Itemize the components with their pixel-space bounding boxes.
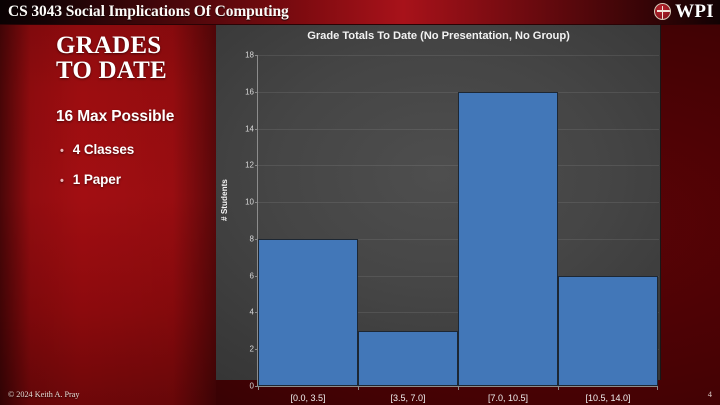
page-title-line-2: TO DATE <box>56 58 167 83</box>
chart-y-tick-label: 12 <box>245 161 254 170</box>
chart-y-tick-mark <box>255 202 258 203</box>
chart-y-tick-label: 2 <box>250 345 254 354</box>
chart-y-tick-label: 10 <box>245 198 254 207</box>
bullet-dot-icon: • <box>60 145 64 159</box>
chart-x-tick-label: [0.0, 3.5] <box>290 393 325 403</box>
chart-y-tick-mark <box>255 92 258 93</box>
chart-x-tick-label: [3.5, 7.0] <box>390 393 425 403</box>
chart-y-tick-label: 4 <box>250 308 254 317</box>
chart-title: Grade Totals To Date (No Presentation, N… <box>216 30 661 42</box>
chart-panel: Grade Totals To Date (No Presentation, N… <box>216 25 661 380</box>
chart-y-tick-mark <box>255 129 258 130</box>
slide-canvas: CS 3043 Social Implications Of Computing… <box>0 0 720 405</box>
chart-bar <box>358 331 458 386</box>
chart-y-tick-label: 6 <box>250 271 254 280</box>
chart-plot-area: 024681012141618[0.0, 3.5][3.5, 7.0][7.0,… <box>257 55 658 387</box>
chart-x-tick-mark <box>258 386 259 390</box>
chart-y-tick-label: 14 <box>245 124 254 133</box>
chart-y-tick-mark <box>255 55 258 56</box>
chart-y-tick-label: 0 <box>250 382 254 391</box>
chart-y-tick-mark <box>255 165 258 166</box>
chart-bar <box>458 92 558 386</box>
chart-x-tick-mark <box>558 386 559 390</box>
chart-x-tick-mark <box>358 386 359 390</box>
chart-y-tick-label: 8 <box>250 234 254 243</box>
page-title-line-1: GRADES <box>56 33 167 58</box>
chart-y-axis-title: # Students <box>220 179 229 221</box>
chart-bar <box>558 276 658 386</box>
wpi-wordmark: WPI <box>675 2 714 21</box>
chart-x-tick-mark <box>458 386 459 390</box>
copyright-notice: © 2024 Keith A. Pray <box>8 390 80 399</box>
page-title: GRADES TO DATE <box>56 33 167 83</box>
page-number: 4 <box>708 389 712 399</box>
chart-bar <box>258 239 358 386</box>
wpi-logo: WPI <box>654 2 714 21</box>
chart-y-tick-label: 18 <box>245 51 254 60</box>
bullet-dot-icon: • <box>60 175 64 189</box>
slide-title-bar: CS 3043 Social Implications Of Computing… <box>0 0 720 25</box>
list-item-label: 1 Paper <box>73 172 121 187</box>
chart-gridline <box>258 55 659 56</box>
list-item: • 1 Paper <box>60 172 121 189</box>
chart-x-tick-mark <box>657 386 658 390</box>
slide-title: CS 3043 Social Implications Of Computing <box>8 3 289 21</box>
chart-x-tick-label: [10.5, 14.0] <box>585 393 630 403</box>
list-item: • 4 Classes <box>60 142 134 159</box>
list-item-label: 4 Classes <box>73 142 134 157</box>
max-possible-label: 16 Max Possible <box>56 108 174 126</box>
wpi-seal-icon <box>654 3 671 20</box>
left-content-panel: GRADES TO DATE 16 Max Possible • 4 Class… <box>0 25 216 405</box>
chart-x-tick-label: [7.0, 10.5] <box>488 393 528 403</box>
chart-y-tick-label: 16 <box>245 87 254 96</box>
